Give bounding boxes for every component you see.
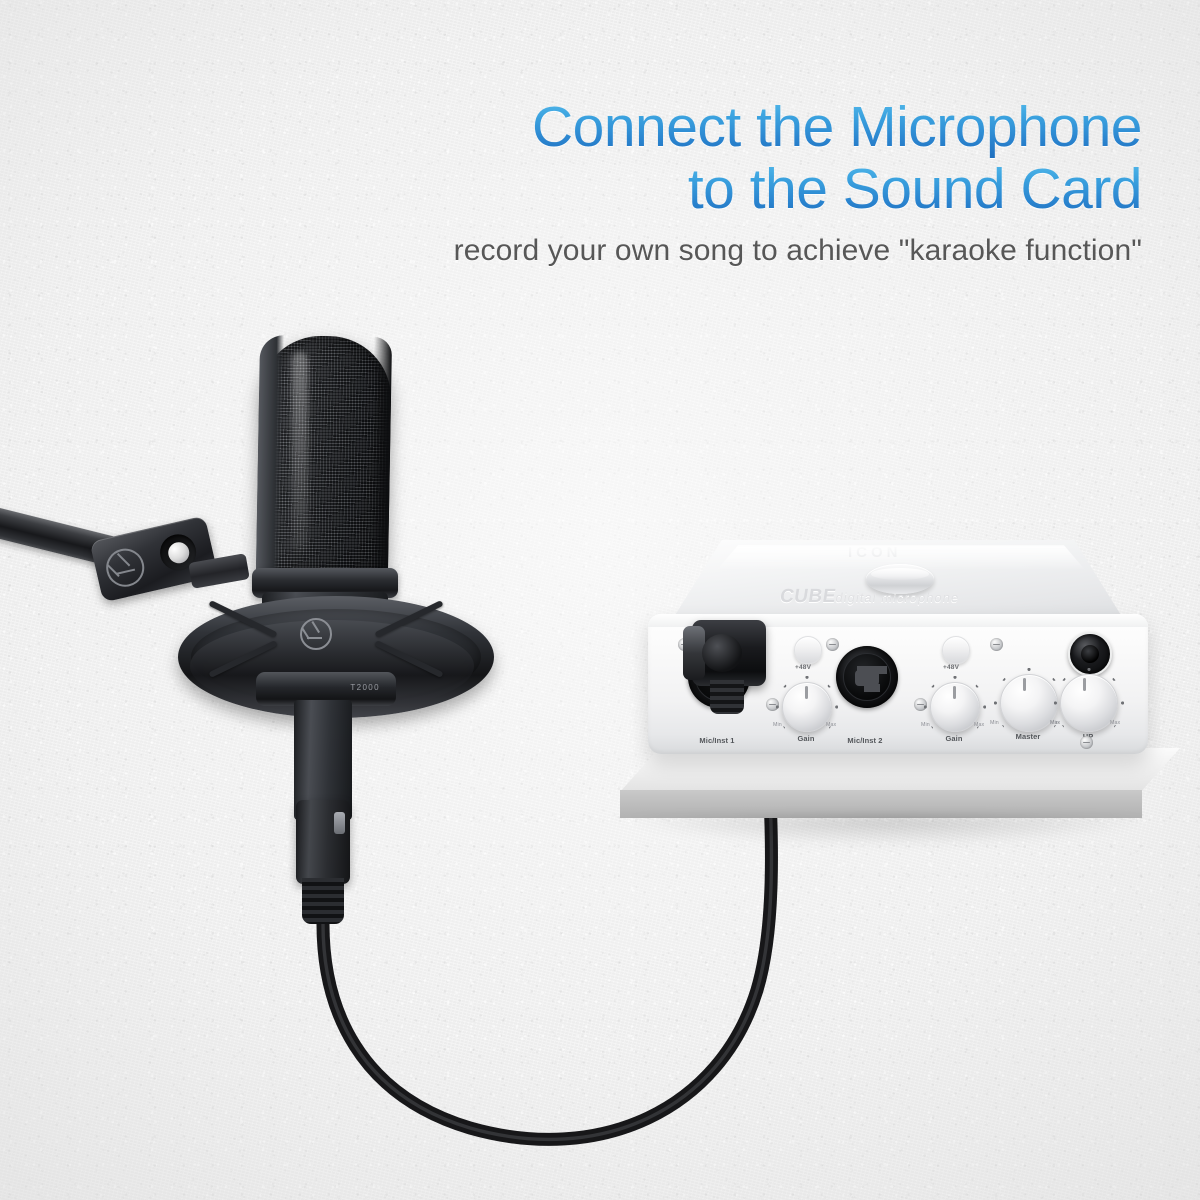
panel-screw (990, 638, 1003, 651)
audio-technica-a-icon (300, 618, 332, 650)
cable-strain-relief (302, 878, 344, 924)
microphone-assembly: T2000 (0, 300, 520, 940)
headline-block: Connect the Microphone to the Sound Card… (0, 96, 1142, 269)
gain-1-min-label: Min (773, 722, 782, 728)
gain-knob-1[interactable] (782, 682, 832, 732)
phantom-power-label-1: +48V (795, 664, 811, 671)
grille-highlight (292, 352, 308, 552)
channel-1-input-label: Mic/Inst 1 (672, 736, 762, 745)
headline-line-2: to the Sound Card (0, 158, 1142, 220)
hp-max-label: Max (1110, 720, 1120, 726)
panel-screw (1080, 736, 1093, 749)
product-image: Connect the Microphone to the Sound Card… (0, 0, 1200, 1200)
shelf-shadow (626, 816, 1146, 846)
channel-2-input-label: Mic/Inst 2 (820, 736, 910, 745)
gain-knob-2[interactable] (930, 682, 980, 732)
shelf-top-surface (620, 748, 1180, 792)
phantom-power-label-2: +48V (943, 664, 959, 671)
gain-1-max-label: Max (826, 722, 836, 728)
subtitle: record your own song to achieve "karaoke… (0, 233, 1142, 269)
headphone-knob-ticks (1054, 668, 1124, 738)
hp-min-label: Min (1050, 720, 1059, 726)
brand-face-label: CUBEdigital microphone (778, 586, 961, 608)
wall-shelf (620, 748, 1180, 820)
gain-2-label: Gain (924, 734, 984, 743)
brand-face-sub: digital microphone (835, 590, 961, 605)
brand-face-main: CUBE (778, 586, 837, 607)
panel-screw (826, 638, 839, 651)
gain-knob-ticks (776, 676, 838, 738)
mesh-grille (256, 335, 392, 575)
gain-2-min-label: Min (921, 722, 930, 728)
gain-2-max-label: Max (974, 722, 984, 728)
boom-clamp (90, 516, 219, 603)
shelf-front-edge (620, 790, 1142, 818)
sound-card: ICON CUBEdigital microphone Mic/Inst 1 +… (630, 540, 1170, 880)
headline-line-1: Connect the Microphone (0, 96, 1142, 158)
master-min-label: Min (990, 720, 999, 726)
phantom-power-button-2[interactable] (942, 636, 970, 664)
xlr-latch (334, 812, 345, 834)
xlr-male-connector (296, 800, 350, 884)
xlr-combo-jack-2[interactable] (836, 646, 898, 708)
mic-model-text: T2000 (350, 683, 380, 692)
audio-technica-a-icon (102, 545, 148, 591)
xlr-pins (855, 670, 879, 686)
master-label: Master (996, 732, 1060, 741)
connected-xlr-plug (692, 620, 766, 686)
gain-knob-ticks (924, 676, 986, 738)
phantom-power-button-1[interactable] (794, 636, 822, 664)
plug-strain-relief (710, 680, 744, 714)
